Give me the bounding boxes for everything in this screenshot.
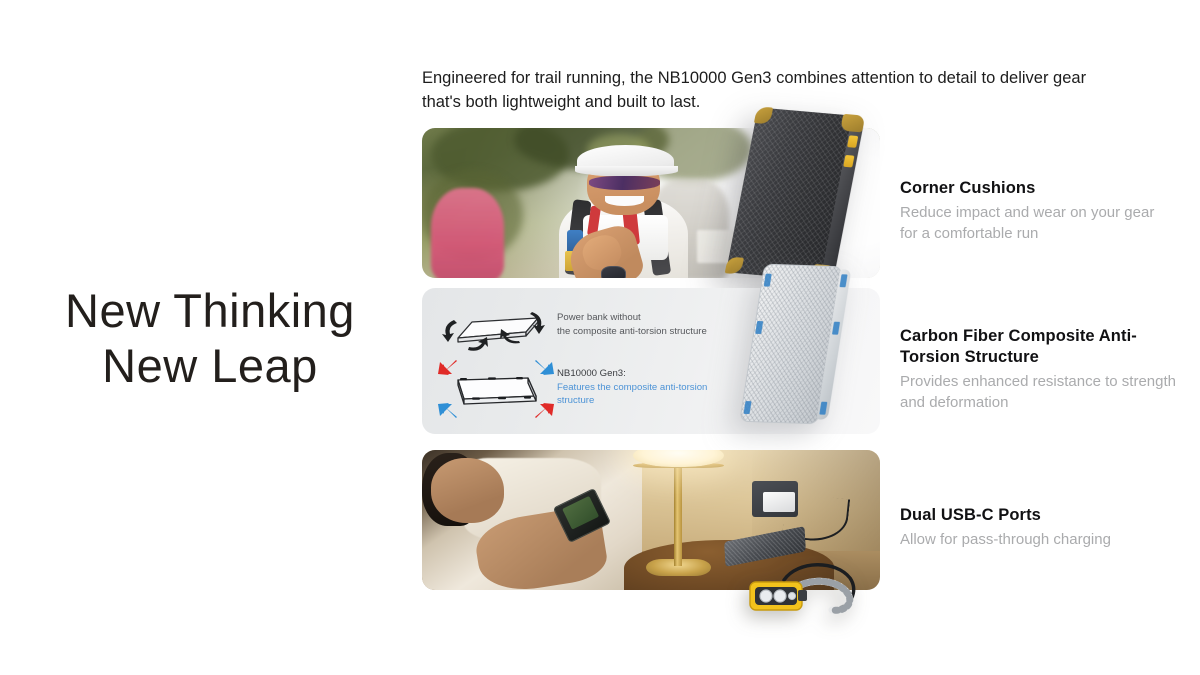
feature-title: Carbon Fiber Composite Anti-Torsion Stru…	[900, 326, 1178, 368]
sports-watch	[601, 266, 625, 278]
feature-title: Corner Cushions	[900, 178, 1170, 199]
rigid-slab-icon	[436, 358, 556, 420]
feature-image-panel-2: Power bank without the composite anti-to…	[422, 288, 880, 434]
headlamp-product	[740, 554, 866, 616]
feature-title: Dual USB-C Ports	[900, 505, 1170, 526]
arrow-red-top-left	[438, 360, 457, 375]
feature-caption-1: Corner Cushions Reduce impact and wear o…	[900, 178, 1170, 244]
feature-image-panel-1	[422, 128, 880, 278]
page-title: New Thinking New Leap	[40, 283, 380, 394]
feature-description: Provides enhanced resistance to strength…	[900, 372, 1178, 413]
runner-smile	[605, 196, 643, 207]
headlamp-led-small	[788, 592, 795, 599]
headlamp-led	[760, 590, 772, 602]
feature-caption-2: Carbon Fiber Composite Anti-Torsion Stru…	[900, 326, 1178, 413]
arrow-blue-bottom-left	[438, 403, 457, 418]
lamp-stem	[674, 465, 681, 566]
feature-description: Allow for pass-through charging	[900, 530, 1170, 550]
corner-cushion-top-right	[840, 114, 865, 133]
sunglasses	[589, 176, 660, 190]
diagram-product-name: NB10000 Gen3:	[557, 367, 707, 381]
headlamp-led	[774, 590, 786, 602]
main-runner-figure	[523, 137, 725, 278]
feature-description: Reduce impact and wear on your gear for …	[900, 203, 1170, 244]
phone-screen	[562, 496, 600, 530]
background-runner-pink	[431, 188, 504, 278]
arrow-red-bottom-right	[535, 403, 554, 418]
feature-image-panel-3	[422, 450, 880, 590]
cap-brim	[575, 166, 678, 177]
diagram-feature-text: Features the composite anti-torsion stru…	[557, 381, 707, 408]
diagram-label-without: Power bank without the composite anti-to…	[557, 311, 707, 338]
person-face	[431, 458, 504, 522]
product-feature-page: New Thinking New Leap Engineered for tra…	[0, 0, 1200, 675]
headlamp-hinge	[798, 590, 807, 601]
arrow-blue-top-right	[535, 360, 554, 375]
diagram-label-with: NB10000 Gen3: Features the composite ant…	[557, 367, 707, 408]
twisting-slab-icon	[438, 302, 554, 358]
feature-caption-3: Dual USB-C Ports Allow for pass-through …	[900, 505, 1170, 551]
